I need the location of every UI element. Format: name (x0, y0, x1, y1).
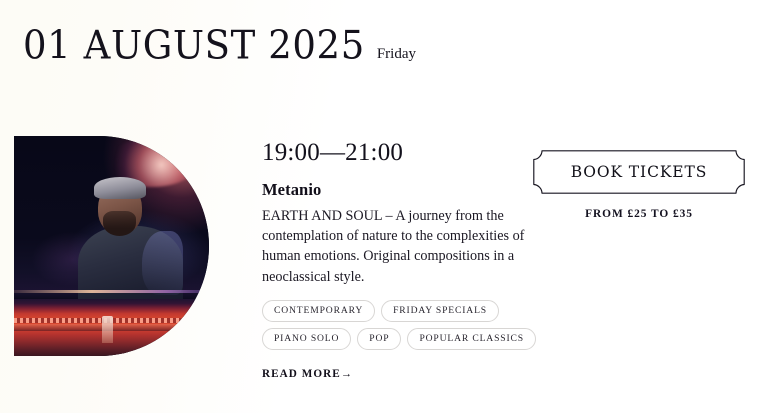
book-tickets-label: BOOK TICKETS (533, 150, 745, 194)
event-photo[interactable] (14, 136, 209, 356)
read-more-link[interactable]: READ MORE→ (262, 368, 353, 380)
page-header: 01 AUGUST 2025 Friday (23, 28, 416, 65)
event-tag[interactable]: PIANO SOLO (262, 328, 351, 350)
performer-beanie-icon (94, 177, 146, 199)
ticket-price-range: FROM £25 TO £35 (533, 208, 745, 220)
page-title: 01 AUGUST 2025 (23, 26, 365, 65)
event-listing-page: 01 AUGUST 2025 Friday 19:00—21:00 Metani… (0, 0, 768, 413)
event-artist-name[interactable]: Metanio (262, 181, 544, 199)
book-tickets-button[interactable]: BOOK TICKETS (533, 150, 745, 194)
event-details: 19:00—21:00 Metanio EARTH AND SOUL – A j… (262, 140, 544, 382)
microphone-stand-icon (102, 316, 114, 342)
event-tag[interactable]: CONTEMPORARY (262, 300, 375, 322)
event-tag[interactable]: POP (357, 328, 401, 350)
event-tag[interactable]: FRIDAY SPECIALS (381, 300, 499, 322)
event-description: EARTH AND SOUL – A journey from the cont… (262, 206, 540, 287)
header-weekday: Friday (377, 47, 416, 62)
performer-photo-icon (14, 136, 209, 356)
event-tag[interactable]: POPULAR CLASSICS (407, 328, 536, 350)
performer-rim-light-icon (142, 231, 183, 295)
performer-silhouette-icon (78, 180, 187, 308)
event-time-range: 19:00—21:00 (262, 140, 544, 165)
piano-lid-highlight-icon (14, 290, 209, 293)
event-tag-list: CONTEMPORARY FRIDAY SPECIALS PIANO SOLO … (262, 300, 547, 350)
booking-section: BOOK TICKETS FROM £25 TO £35 (533, 150, 745, 220)
